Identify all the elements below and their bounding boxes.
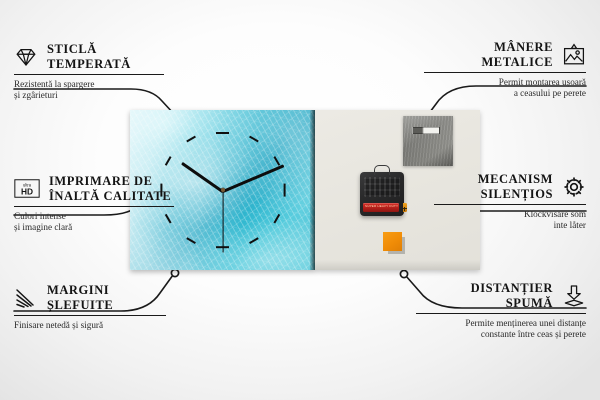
callout-rule: [14, 206, 174, 207]
diagonal-lines-icon: [14, 286, 38, 310]
clock-center-pin: [221, 188, 225, 192]
callout-print-quality: ultra HD IMPRIMARE DE ÎNALTĂ CALITATE Cu…: [14, 174, 174, 233]
callout-title: MECANISM SILENȚIOS: [478, 172, 553, 201]
mechanism-hanging-loop: [374, 165, 390, 175]
callout-subtitle: Finisare netedă și sigură: [14, 320, 166, 331]
foam-spacer-square: [383, 232, 402, 251]
callout-subtitle: Rezistentă la spargere și zgârieturi: [14, 79, 164, 101]
callout-subtitle: Klockvisare som inte låter: [434, 209, 586, 231]
diamond-icon: [14, 45, 38, 69]
mechanism-housing-texture: [364, 177, 400, 197]
callout-title: STICLĂ TEMPERATĂ: [47, 42, 131, 71]
callout-subtitle: Permite menținerea unei distanțe constan…: [416, 318, 586, 340]
callout-silent-mechanism: MECANISM SILENȚIOS Klockvisare som inte …: [434, 172, 586, 231]
callout-polished-edges: MARGINI ȘLEFUITE Finisare netedă și sigu…: [14, 283, 166, 331]
callout-subtitle: Permit montarea ușoară a ceasului pe per…: [424, 77, 586, 99]
battery-plus-icon-vertical: [404, 207, 405, 210]
gear-icon: [562, 175, 586, 199]
callout-metal-handles: MÂNERE METALICE Permit montarea ușoară a…: [424, 40, 586, 99]
callout-tempered-glass: STICLĂ TEMPERATĂ Rezistentă la spargere …: [14, 42, 164, 101]
callout-rule: [434, 204, 586, 205]
hanging-picture-frame-icon: [562, 43, 586, 67]
clock-second-hand: [222, 191, 223, 253]
callout-foam-spacer: DISTANȚIER SPUMĂ Permite menținerea unei…: [416, 281, 586, 340]
callout-rule: [416, 313, 586, 314]
callout-title: MÂNERE METALICE: [481, 40, 553, 69]
callout-title: IMPRIMARE DE ÎNALTĂ CALITATE: [49, 174, 171, 203]
callout-rule: [14, 315, 166, 316]
callout-rule: [424, 72, 586, 73]
quartz-mechanism: SUPER HEAVY DUTY: [360, 172, 404, 216]
callout-rule: [14, 74, 164, 75]
hanger-slot: [412, 127, 440, 134]
callout-title: DISTANȚIER SPUMĂ: [471, 281, 553, 310]
product-image: SUPER HEAVY DUTY: [130, 110, 480, 275]
back-panel-bottom-shade: [315, 260, 480, 270]
aa-battery: SUPER HEAVY DUTY: [363, 203, 399, 212]
callout-subtitle: Culori intense și imagine clară: [14, 211, 174, 233]
clock-tick: [283, 184, 285, 197]
metal-hanger-plate: [403, 116, 453, 166]
callout-title: MARGINI ȘLEFUITE: [47, 283, 113, 312]
ultra-hd-big-label: HD: [21, 187, 33, 197]
arrow-down-onto-layers-icon: [562, 284, 586, 308]
ultra-hd-icon: ultra HD: [14, 179, 40, 198]
clock-tick: [216, 132, 229, 134]
battery-label: SUPER HEAVY DUTY: [365, 204, 398, 208]
